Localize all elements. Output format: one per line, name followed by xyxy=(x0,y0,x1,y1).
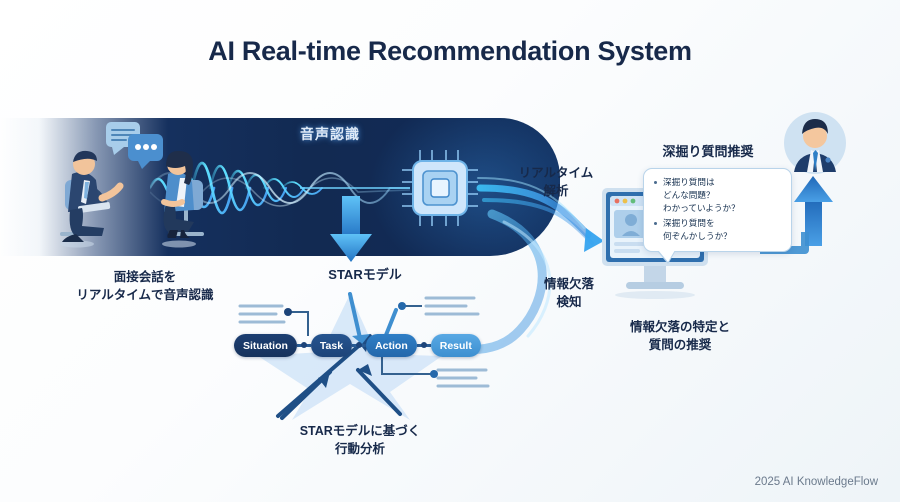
star-model-diagram: Situation Task Action Result xyxy=(230,292,500,422)
footer-credit: 2025 AI KnowledgeFlow xyxy=(755,476,878,488)
right-caption: 情報欠落の特定と 質問の推奨 xyxy=(580,318,780,354)
pill-connector xyxy=(297,344,311,347)
bubble-tail xyxy=(658,250,675,262)
star-pill-task[interactable]: Task xyxy=(311,334,352,357)
interviewer-male xyxy=(60,151,120,248)
chat-bubble-dots xyxy=(128,134,163,169)
label-star-model: STARモデル xyxy=(300,266,430,285)
page-title: AI Real-time Recommendation System xyxy=(0,36,900,67)
star-pill-result[interactable]: Result xyxy=(431,334,481,357)
star-pill-row: Situation Task Action Result xyxy=(234,334,481,357)
bubble-title: 深掘り質問推奨 xyxy=(638,143,778,162)
star-shape-graphic xyxy=(230,292,500,422)
label-realtime-analysis: リアルタイム 解析 xyxy=(508,164,604,200)
left-caption: 面接会話を リアルタイムで音声認識 xyxy=(40,268,250,304)
band-label: 音声認識 xyxy=(300,124,360,144)
interviewee-female xyxy=(162,151,203,248)
star-pill-action[interactable]: Action xyxy=(366,334,417,357)
cpu-chip-icon xyxy=(400,148,480,228)
candidate-avatar xyxy=(782,110,848,176)
interview-illustration xyxy=(48,122,238,262)
recommendation-item: 深掘り質問を 何ぞんかしうか？ xyxy=(663,217,783,243)
pill-connector xyxy=(352,344,366,347)
star-caption: STARモデルに基づく 行動分析 xyxy=(250,422,470,458)
infographic-canvas: AI Real-time Recommendation System xyxy=(0,0,900,502)
star-pill-situation[interactable]: Situation xyxy=(234,334,297,357)
recommendation-item: 深掘り質問は どんな問題？ わかっていようか？ xyxy=(663,176,783,215)
recommendation-bubble: 深掘り質問は どんな問題？ わかっていようか？ 深掘り質問を 何ぞんかしうか？ xyxy=(643,168,792,252)
pill-connector xyxy=(417,344,431,347)
